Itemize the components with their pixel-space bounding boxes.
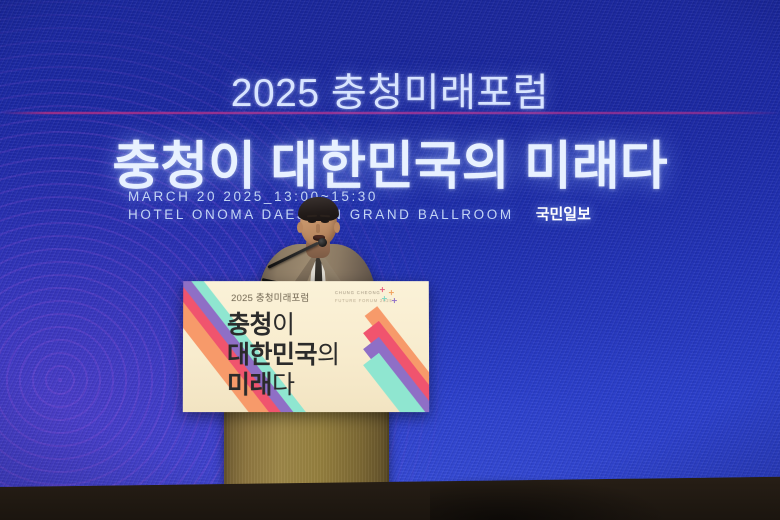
sign-content: 2025 충청미래포럼 CHUNG CHEONG FUTURE FORUM 20… [183, 281, 429, 412]
forum-logo: CHUNG CHEONG FUTURE FORUM 2025 [335, 287, 399, 307]
sign-slogan-line-3: 미래다 [227, 372, 340, 402]
sign-slogan: 충청이 대한민국의 미래다 [227, 312, 340, 402]
speaker-eye-right [321, 220, 329, 223]
sign-line2-bold: 대한민국 [227, 341, 317, 369]
sign-kicker: 2025 충청미래포럼 [231, 290, 309, 304]
speaker-ear-left [297, 222, 303, 233]
speaker-eye-left [308, 220, 316, 223]
sparkle-icon-pink [380, 287, 385, 292]
sign-slogan-line-2: 대한민국의 [227, 342, 340, 372]
sign-line1-light: 이 [272, 311, 295, 339]
speaker-nose [316, 224, 320, 233]
sign-line2-light: 의 [317, 341, 340, 369]
microphone-head-icon [318, 238, 327, 247]
sign-line3-bold: 미래 [227, 371, 272, 399]
podium-sign: 2025 충청미래포럼 CHUNG CHEONG FUTURE FORUM 20… [183, 281, 429, 412]
floor-shadow [430, 474, 670, 520]
sparkle-icon-orange [389, 290, 394, 295]
sign-slogan-line-1: 충청이 [227, 312, 340, 342]
screen-kicker: 2025 충청미래포럼 [0, 62, 780, 118]
sparkle-icon-purple [392, 298, 397, 303]
sign-line1-bold: 충청 [227, 311, 272, 339]
sparkle-icon-mint [382, 296, 387, 301]
forum-logo-text-top: CHUNG CHEONG [335, 290, 381, 295]
speaker-ear-right [334, 222, 340, 233]
sign-line3-light: 다 [272, 371, 295, 399]
press-conference-photo: 2025 충청미래포럼 충청이 대한민국의 미래다 MARCH 20 2025_… [0, 0, 780, 520]
speaker-hair [298, 197, 339, 221]
press-logo: 국민일보 [536, 206, 591, 224]
